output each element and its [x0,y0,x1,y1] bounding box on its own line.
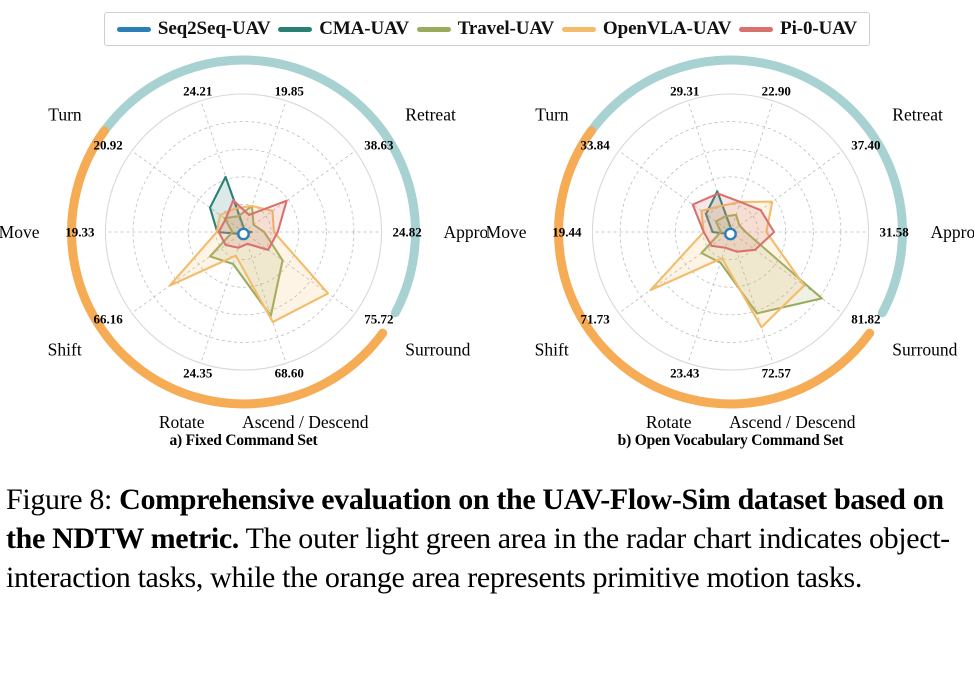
axis-label-ascend-descend: Ascend / Descend [242,412,369,432]
legend-item-cma-uav[interactable]: CMA-UAV [278,18,409,40]
radar-chart-fixed-command-set: 19.85Pass38.63Retreat24.82Approach75.72S… [0,50,487,440]
legend-swatch-icon [417,27,451,32]
radar-svg-a: 19.85Pass38.63Retreat24.82Approach75.72S… [0,50,487,440]
legend-swatch-icon [278,27,312,32]
axis-label-land: Land [651,50,687,52]
subcaption-b: b) Open Vocabulary Command Set [487,432,974,450]
value-label-move: 19.44 [552,225,582,240]
value-label-turn: 33.84 [581,138,611,153]
value-label-land: 24.21 [183,84,212,99]
center-marker-seq2seq [725,229,735,239]
value-label-approach: 31.58 [880,225,910,240]
legend-label: Pi-0-UAV [780,18,857,40]
axis-label-surround: Surround [405,340,470,360]
legend-label: Travel-UAV [458,18,554,40]
legend-swatch-icon [562,27,596,32]
caption-prefix: Figure 8: [6,483,112,516]
axis-label-shift: Shift [48,340,82,360]
axis-label-approach: Approach [444,222,488,242]
value-label-retreat: 37.40 [851,138,880,153]
axis-label-pass: Pass [290,50,321,52]
value-label-rotate: 23.43 [670,365,700,380]
value-label-shift: 71.73 [581,312,611,327]
axis-label-approach: Approach [931,222,974,242]
axis-label-turn: Turn [535,104,569,124]
center-marker-seq2seq [238,229,248,239]
legend-label: Seq2Seq-UAV [158,18,271,40]
legend-item-openvla-uav[interactable]: OpenVLA-UAV [562,18,731,40]
legend-label: CMA-UAV [319,18,409,40]
axis-label-retreat: Retreat [892,104,943,124]
value-label-pass: 19.85 [275,84,305,99]
legend-swatch-icon [739,27,773,32]
value-label-approach: 24.82 [393,225,422,240]
axis-label-turn: Turn [48,104,82,124]
radar-svg-b: 22.90Pass37.40Retreat31.58Approach81.82S… [487,50,974,440]
value-label-move: 19.33 [65,225,95,240]
figure-caption: Figure 8: Comprehensive evaluation on th… [6,480,968,597]
chart-legend: Seq2Seq-UAVCMA-UAVTravel-UAVOpenVLA-UAVP… [104,12,870,46]
value-label-rotate: 24.35 [183,365,213,380]
subcaption-a: a) Fixed Command Set [0,432,487,450]
radar-chart-open-vocabulary-command-set: 22.90Pass37.40Retreat31.58Approach81.82S… [487,50,974,440]
value-label-retreat: 38.63 [364,138,394,153]
legend-swatch-icon [117,27,151,32]
value-label-pass: 22.90 [762,84,791,99]
legend-label: OpenVLA-UAV [603,18,731,40]
legend-item-pi-0-uav[interactable]: Pi-0-UAV [739,18,857,40]
axis-label-surround: Surround [892,340,957,360]
axis-label-shift: Shift [535,340,569,360]
axis-label-rotate: Rotate [646,412,692,432]
figure-root: Seq2Seq-UAVCMA-UAVTravel-UAVOpenVLA-UAVP… [0,0,974,676]
axis-label-land: Land [164,50,200,52]
value-label-ascend-descend: 68.60 [275,365,304,380]
axis-label-retreat: Retreat [405,104,456,124]
axis-label-move: Move [0,222,40,242]
legend-item-travel-uav[interactable]: Travel-UAV [417,18,554,40]
value-label-turn: 20.92 [94,138,123,153]
axis-label-ascend-descend: Ascend / Descend [729,412,856,432]
axis-label-move: Move [487,222,527,242]
value-label-shift: 66.16 [94,312,124,327]
value-label-land: 29.31 [670,84,699,99]
value-label-ascend-descend: 72.57 [762,365,792,380]
axis-label-pass: Pass [777,50,808,52]
axis-label-rotate: Rotate [159,412,205,432]
legend-item-seq2seq-uav[interactable]: Seq2Seq-UAV [117,18,271,40]
value-label-surround: 75.72 [364,312,393,327]
value-label-surround: 81.82 [851,312,880,327]
